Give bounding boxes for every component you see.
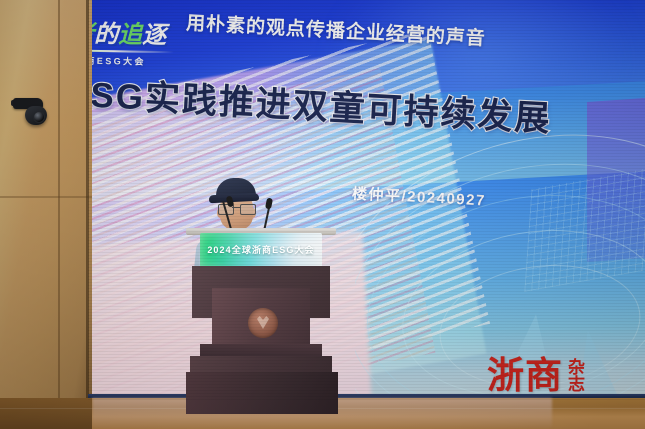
- floor-left-shadow: [0, 398, 92, 429]
- magazine-logo-stack: 杂 志: [568, 358, 586, 393]
- podium-front-banner: 2024全球浙商ESG大会: [200, 233, 322, 267]
- wall-seam-horizontal: [0, 196, 92, 198]
- wall-seam-vertical-1: [58, 0, 60, 400]
- wall-seam-vertical-2: [86, 0, 89, 400]
- screen-main-title: ESG实践推进双童可持续发展: [64, 65, 553, 141]
- ptz-camera-icon: [13, 98, 49, 128]
- magazine-logo-secondary-top: 杂: [568, 359, 586, 376]
- magazine-logo-secondary-bottom: 志: [568, 376, 586, 393]
- camera-lens: [33, 111, 45, 123]
- podium-emblem-icon: [248, 308, 278, 338]
- conference-photo-stage: 用朴素的观点传播企业经营的声音 ESG实践推进双童可持续发展 楼仲平/20240…: [0, 0, 645, 429]
- podium-banner-text: 2024全球浙商ESG大会: [200, 243, 322, 256]
- screen-byline: 楼仲平/20240927: [352, 183, 487, 211]
- podium-foot-shadow-block: [186, 372, 338, 414]
- screen-subtitle: 用朴素的观点传播企业经营的声音: [185, 8, 486, 51]
- magazine-logo-row: 浙商 杂 志: [487, 358, 637, 394]
- wall-shading: [0, 0, 92, 400]
- magazine-logo-primary: 浙商: [487, 358, 563, 394]
- left-wood-wall: [0, 0, 92, 400]
